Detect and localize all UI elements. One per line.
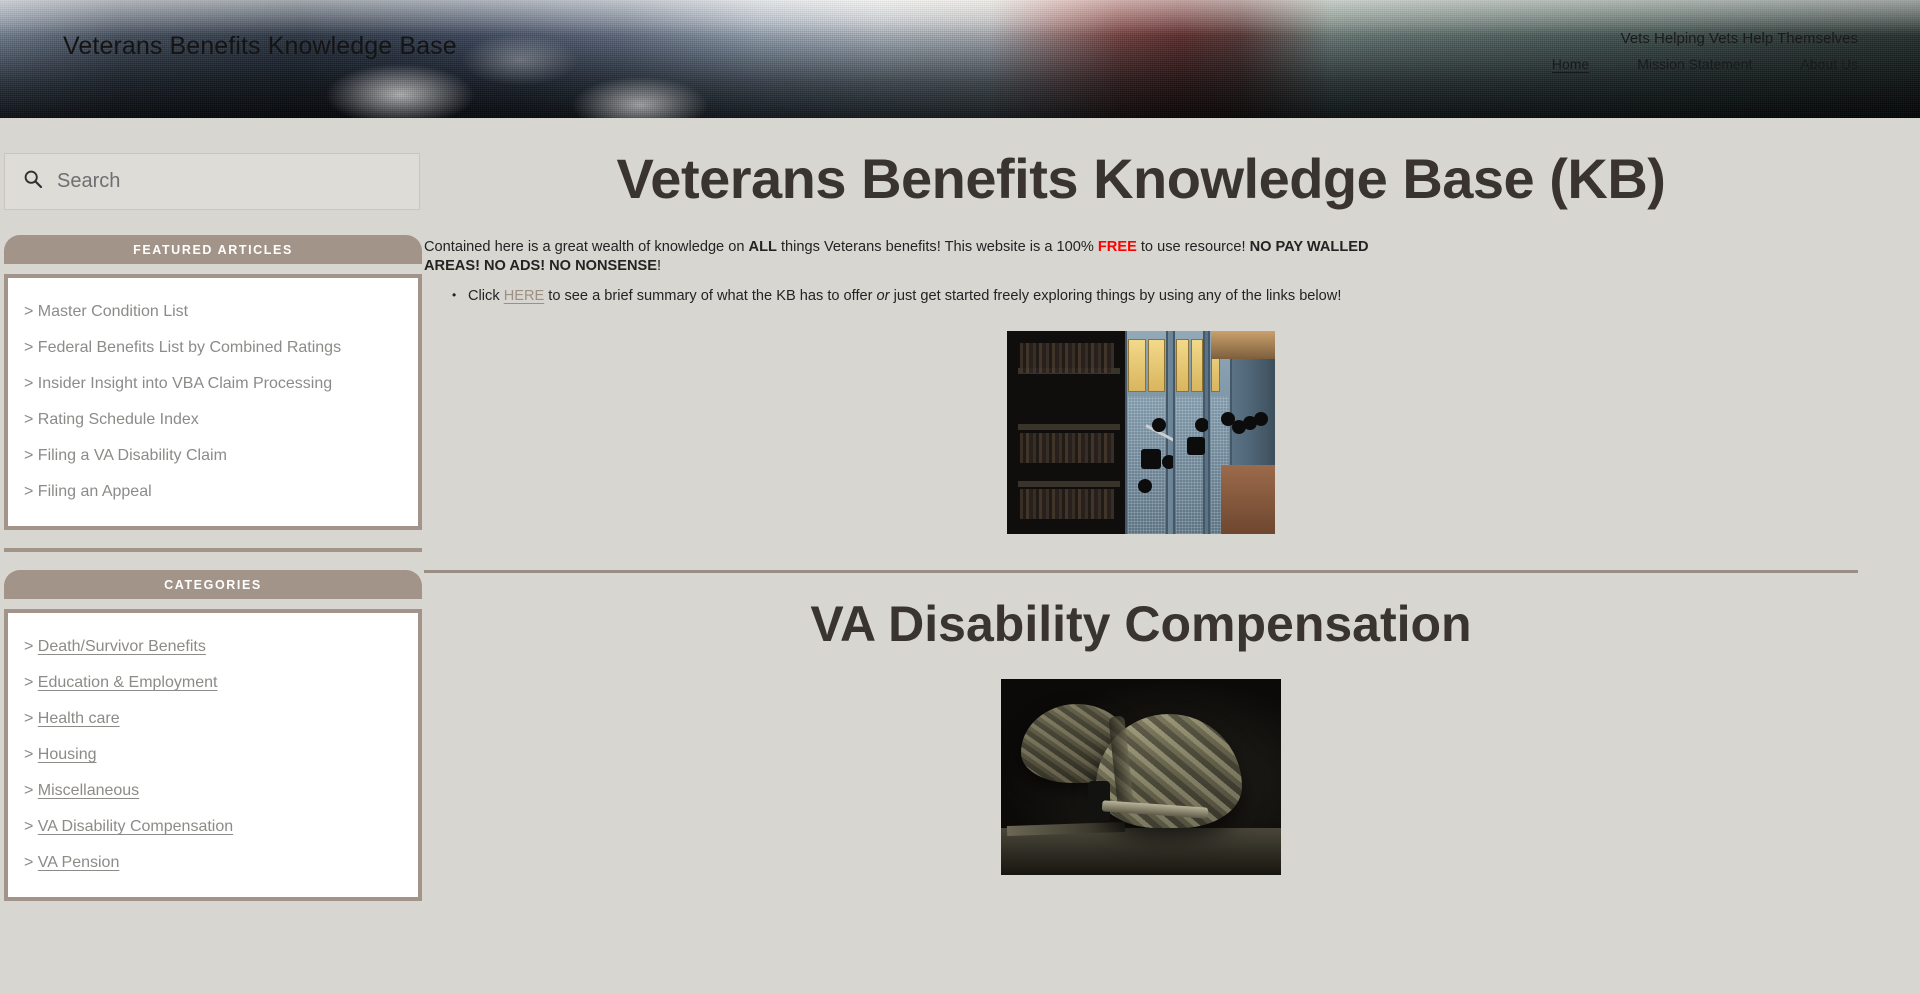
list-item-label: VA Pension [38, 854, 120, 871]
helmet-table-surface [1001, 828, 1281, 875]
chevron-right-icon: > [24, 638, 33, 655]
intro-bold-all: ALL [749, 239, 777, 255]
categories-list: > Death/Survivor Benefits > Education & … [4, 609, 422, 901]
category-link-health-care[interactable]: > Health care [24, 710, 120, 727]
intro-text-3: to use resource! [1137, 239, 1250, 255]
chevron-right-icon: > [24, 746, 33, 763]
list-item[interactable]: > Death/Survivor Benefits [8, 629, 418, 665]
site-tagline: Vets Helping Vets Help Themselves [1621, 30, 1858, 47]
library-books [1020, 489, 1114, 519]
featured-articles-list: > Master Condition List > Federal Benefi… [4, 274, 422, 530]
list-item-label: Filing a VA Disability Claim [38, 447, 227, 464]
featured-articles-panel: FEATURED ARTICLES > Master Condition Lis… [4, 235, 394, 530]
list-item-label: Filing an Appeal [38, 483, 152, 500]
chevron-right-icon: > [24, 854, 33, 871]
list-item[interactable]: > Health care [8, 701, 418, 737]
nav-link-home[interactable]: Home [1552, 56, 1589, 72]
list-item-label: Health care [38, 710, 120, 727]
helmets-illustration [1001, 679, 1281, 875]
site-header: Veterans Benefits Knowledge Base Vets He… [0, 0, 1920, 118]
intro-free-badge: FREE [1098, 239, 1137, 255]
featured-link-filing-va-disability-claim[interactable]: > Filing a VA Disability Claim [24, 447, 227, 464]
list-item[interactable]: > Filing an Appeal [8, 474, 418, 510]
categories-panel: CATEGORIES > Death/Survivor Benefits > E… [4, 570, 394, 901]
intro-bullet-list: Click HERE to see a brief summary of wha… [468, 287, 1858, 305]
main-content: Veterans Benefits Knowledge Base (KB) Co… [424, 118, 1920, 993]
list-item[interactable]: > Federal Benefits List by Combined Rati… [8, 330, 418, 366]
list-item-label: Housing [38, 746, 97, 763]
list-item-label: Rating Schedule Index [38, 411, 199, 428]
library-shelf-row [1018, 481, 1120, 487]
list-item[interactable]: > Rating Schedule Index [8, 402, 418, 438]
library-figure [424, 331, 1858, 534]
intro-paragraph: Contained here is a great wealth of know… [424, 238, 1376, 275]
sidebar-divider [4, 548, 422, 552]
library-cabinet-label [1191, 339, 1203, 392]
featured-articles-title: FEATURED ARTICLES [133, 243, 293, 257]
list-item-label: Insider Insight into VBA Claim Processin… [38, 375, 332, 392]
chevron-right-icon: > [24, 303, 33, 320]
list-item[interactable]: > Filing a VA Disability Claim [8, 438, 418, 474]
category-link-va-disability-compensation[interactable]: > VA Disability Compensation [24, 818, 233, 835]
intro-bold-no-nonsense: NO NONSENSE [549, 258, 657, 274]
categories-title: CATEGORIES [164, 578, 262, 592]
library-crank-knob [1195, 418, 1209, 432]
library-ceiling-lights [1211, 331, 1275, 359]
chevron-right-icon: > [24, 818, 33, 835]
nav-link-about-us[interactable]: About Us [1800, 56, 1858, 72]
search-icon [23, 169, 43, 194]
site-title: Veterans Benefits Knowledge Base [63, 32, 457, 61]
search-box[interactable] [4, 153, 420, 210]
list-item[interactable]: > Master Condition List [8, 294, 418, 330]
chevron-right-icon: > [24, 483, 33, 500]
list-item[interactable]: > VA Disability Compensation [8, 809, 418, 845]
chevron-right-icon: > [24, 375, 33, 392]
featured-articles-header: FEATURED ARTICLES [4, 235, 422, 264]
list-item-label: Death/Survivor Benefits [38, 638, 206, 655]
category-link-housing[interactable]: > Housing [24, 746, 97, 763]
library-crank-knob [1254, 412, 1268, 426]
nav-link-mission-statement[interactable]: Mission Statement [1637, 56, 1752, 72]
list-item[interactable]: > Insider Insight into VBA Claim Process… [8, 366, 418, 402]
chevron-right-icon: > [24, 339, 33, 356]
library-shelf-row [1018, 424, 1120, 430]
section-title-va-disability-compensation: VA Disability Compensation [424, 595, 1858, 653]
library-floor [1221, 465, 1275, 534]
search-input[interactable] [57, 170, 401, 193]
list-item-label: Master Condition List [38, 303, 188, 320]
library-cabinet-label [1128, 339, 1147, 392]
featured-articles-header-gap [4, 264, 394, 274]
page-title: Veterans Benefits Knowledge Base (KB) [424, 146, 1858, 211]
list-item: Click HERE to see a brief summary of wha… [468, 287, 1858, 305]
library-cabinet-label [1148, 339, 1165, 392]
library-books [1020, 343, 1114, 373]
intro-text-2: things Veterans benefits! This website i… [777, 239, 1098, 255]
library-books [1020, 433, 1114, 463]
featured-link-insider-insight-vba[interactable]: > Insider Insight into VBA Claim Process… [24, 375, 332, 392]
library-cabinet-mesh [1176, 396, 1203, 534]
library-illustration [1007, 331, 1275, 534]
chevron-right-icon: > [24, 782, 33, 799]
library-archive-image [1007, 331, 1275, 534]
library-crank-hub [1187, 437, 1205, 455]
category-link-va-pension[interactable]: > VA Pension [24, 854, 119, 871]
main-nav: Home Mission Statement About Us [1552, 56, 1858, 72]
featured-link-federal-benefits-list[interactable]: > Federal Benefits List by Combined Rati… [24, 339, 341, 356]
bullet-text-before: Click [468, 288, 504, 304]
list-item-label: Federal Benefits List by Combined Rating… [38, 339, 341, 356]
intro-text-5: ! [657, 258, 661, 274]
chevron-right-icon: > [24, 710, 33, 727]
bullet-text-italic-or: or [877, 288, 890, 304]
list-item[interactable]: > Education & Employment [8, 665, 418, 701]
page-body: FEATURED ARTICLES > Master Condition Lis… [0, 118, 1920, 993]
intro-text-1: Contained here is a great wealth of know… [424, 239, 749, 255]
list-item-label: Miscellaneous [38, 782, 139, 799]
here-link[interactable]: HERE [504, 288, 545, 304]
category-link-education-employment[interactable]: > Education & Employment [24, 674, 217, 691]
sidebar: FEATURED ARTICLES > Master Condition Lis… [0, 118, 424, 993]
chevron-right-icon: > [24, 674, 33, 691]
category-link-miscellaneous[interactable]: > Miscellaneous [24, 782, 139, 799]
chevron-right-icon: > [24, 447, 33, 464]
featured-link-rating-schedule-index[interactable]: > Rating Schedule Index [24, 411, 199, 428]
list-item[interactable]: > VA Pension [8, 845, 418, 881]
helmet-figure [424, 679, 1858, 875]
category-link-death-survivor-benefits[interactable]: > Death/Survivor Benefits [24, 638, 206, 655]
categories-header-gap [4, 599, 394, 609]
chevron-right-icon: > [24, 411, 33, 428]
section-divider-rule [424, 570, 1858, 573]
library-crank-knob [1152, 418, 1166, 432]
list-item-label: VA Disability Compensation [38, 818, 233, 835]
military-helmets-image [1001, 679, 1281, 875]
list-item-label: Education & Employment [38, 674, 218, 691]
library-cabinet-label [1176, 339, 1189, 392]
bullet-text-tail: just get started freely exploring things… [890, 288, 1342, 304]
library-crank-hub [1141, 449, 1161, 469]
list-item[interactable]: > Miscellaneous [8, 773, 418, 809]
list-item[interactable]: > Housing [8, 737, 418, 773]
categories-header: CATEGORIES [4, 570, 422, 599]
featured-link-filing-an-appeal[interactable]: > Filing an Appeal [24, 483, 152, 500]
featured-link-master-condition-list[interactable]: > Master Condition List [24, 303, 188, 320]
bullet-text-after: to see a brief summary of what the KB ha… [544, 288, 876, 304]
